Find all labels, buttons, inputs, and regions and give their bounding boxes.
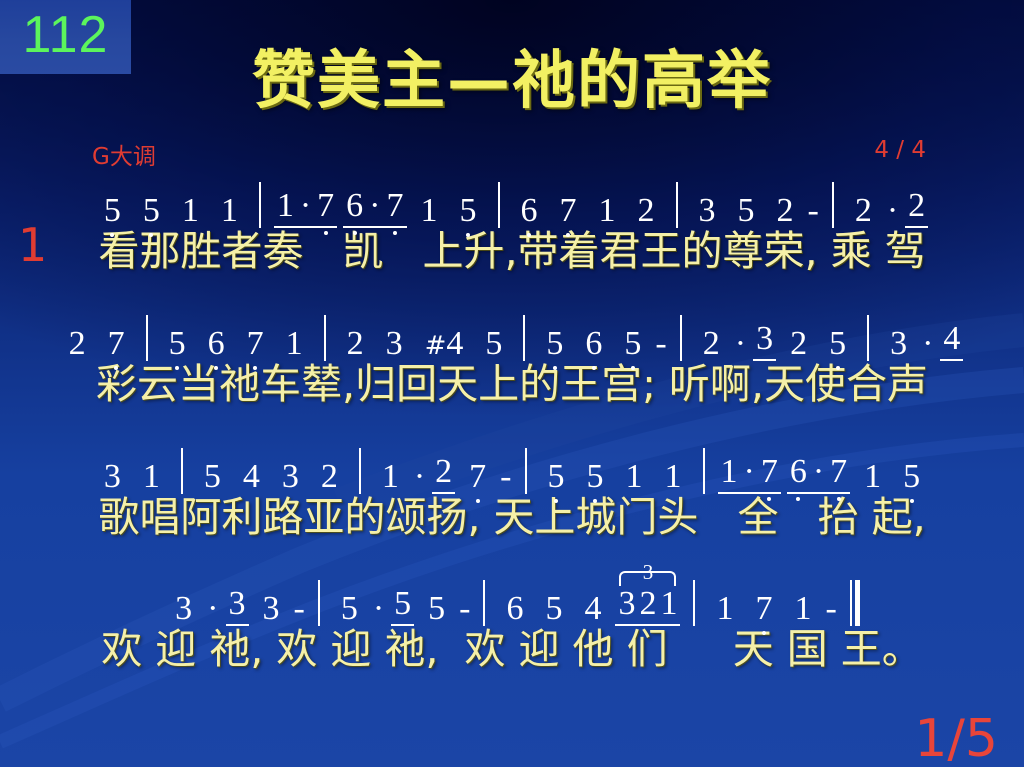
note-1: 1 [624,460,645,494]
notation-row-1: 55111·76·7156712352-2·2 [0,172,1024,228]
duration-dot: · [410,460,429,494]
note-slot: 7 [549,194,588,228]
barline [498,182,500,228]
note-7: 7 [385,189,406,223]
note-slot: 5 [818,327,857,361]
note-7: 7 [245,327,266,361]
lyrics-row-3: 歌唱阿利路亚的颂扬, 天上城门头 全 抬 起, [0,494,1024,541]
note-3: 3 [384,327,405,361]
note-slot: 6 [510,194,549,228]
note-slot: #4 [414,327,475,361]
note-5: 5 [622,327,643,361]
note-slot: 1 [654,460,693,494]
barline [693,580,695,626]
music-system-4: 3·33-5·55-6543321171- 欢 迎 祂, 欢 迎 祂, 欢 迎 … [0,570,1024,673]
beamed-note-single: 4 [940,322,963,361]
note-5: 5 [827,327,848,361]
barline [703,448,705,494]
note-5: 5 [901,460,922,494]
note-3: 3 [616,587,637,621]
note-1: 1 [141,460,162,494]
time-signature: 4 / 4 [874,137,926,163]
note-2: 2 [319,460,340,494]
note-3: 3 [697,194,718,228]
note-slot: 5 [474,327,513,361]
note-slot: 1 [588,194,627,228]
note-3: 3 [888,327,909,361]
barline [523,315,525,361]
note-2: 2 [67,327,88,361]
note-3: 3 [261,592,282,626]
note-2: 2 [345,327,366,361]
hold-dash: - [497,460,514,494]
note-slot: 3 [252,592,291,626]
music-system-3: 3154321·27-55111·76·715 歌唱阿利路亚的颂扬, 天上城门头… [0,438,1024,541]
note-6: 6 [206,327,227,361]
note-slot: 3 [164,592,203,626]
note-2: 2 [788,327,809,361]
barline [259,182,261,228]
note-slot: 1 [275,327,314,361]
note-slot: 3 [93,460,132,494]
music-system-2: 27567123#45565-2·3253·4 彩云当祂车辇,归回天上的王宫; … [0,305,1024,408]
note-slot: 1 [132,460,171,494]
note-5: 5 [546,460,567,494]
note-6: 6 [788,455,809,489]
barline [483,580,485,626]
beamed-note-single: 3 [226,587,249,626]
hold-dash: - [456,592,473,626]
note-5: 5 [458,194,479,228]
note-slot: 6 [574,327,613,361]
note-3: 3 [102,460,123,494]
note-2: 2 [853,194,874,228]
note-5: 5 [543,592,564,626]
note-7: 7 [828,455,849,489]
note-slot: 3 [375,327,414,361]
note-6: 6 [344,189,365,223]
note-slot: 2 [627,194,666,228]
hold-dash: - [652,327,669,361]
notation-row-4: 3·33-5·55-6543321171- [0,570,1024,626]
note-2: 2 [701,327,722,361]
duration-dot: · [918,327,937,361]
lyrics-row-1: 看那胜者奏 凯 上升,带着君王的尊荣, 乘 驾 [0,228,1024,275]
note-slot: 5 [892,460,931,494]
note-7: 7 [558,194,579,228]
note-1: 1 [663,460,684,494]
barline [359,448,361,494]
note-1: 1 [658,587,679,621]
note-slot: 5 [537,460,576,494]
barline [867,315,869,361]
note-1: 1 [792,592,813,626]
note-slot: 5 [93,194,132,228]
duration-dot: · [203,592,222,626]
hold-dash: - [822,592,839,626]
note-slot: 6 [495,592,534,626]
note-slot: 1 [615,460,654,494]
note-7: 7 [106,327,127,361]
note-7: 7 [759,455,780,489]
note-1: 1 [597,194,618,228]
note-slot: 7 [236,327,275,361]
hold-dash: - [291,592,308,626]
note-3: 3 [173,592,194,626]
note-2: 2 [906,189,927,223]
note-7: 7 [467,460,488,494]
note-3: 3 [754,322,775,356]
note-4: 4 [582,592,603,626]
note-5: 5 [426,592,447,626]
duration-dot: · [740,455,759,489]
duration-dot: · [809,455,828,489]
note-slot: 2 [844,194,883,228]
note-slot: 5 [193,460,232,494]
note-slot: 5 [417,592,456,626]
triplet-group: 3321 [615,567,680,626]
note-5: 5 [102,194,123,228]
note-slot: 3 [879,327,918,361]
note-4: 4 [241,460,262,494]
note-slot: 1 [210,194,249,228]
note-slot: 6 [197,327,236,361]
barline [676,182,678,228]
note-2: 2 [775,194,796,228]
beamed-note-single: 2 [905,189,928,228]
note-2: 2 [636,194,657,228]
note-1: 1 [380,460,401,494]
music-system-1: 55111·76·7156712352-2·2 看那胜者奏 凯 上升,带着君王的… [0,172,1024,275]
end-barline [850,580,860,626]
note-slot: 1 [410,194,449,228]
note-slot: 7 [744,592,783,626]
note-slot: 2 [766,194,805,228]
note-5: 5 [736,194,757,228]
barline [680,315,682,361]
beamed-note-single: 5 [391,587,414,626]
note-2: 2 [637,587,658,621]
note-slot: 5 [534,592,573,626]
note-3: 3 [227,587,248,621]
note-slot: 2 [310,460,349,494]
note-1: 1 [219,194,240,228]
note-4: 4 [941,322,962,356]
note-slot: 5 [330,592,369,626]
note-7: 7 [315,189,336,223]
note-1: 1 [419,194,440,228]
note-slot: 5 [576,460,615,494]
duration-dot: · [731,327,750,361]
note-5: 5 [392,587,413,621]
barline [832,182,834,228]
note-slot: 5 [158,327,197,361]
barline [525,448,527,494]
note-2: 2 [433,455,454,489]
duration-dot: · [296,189,315,223]
note-6: 6 [583,327,604,361]
barline [318,580,320,626]
note-5: 5 [483,327,504,361]
note-5: 5 [339,592,360,626]
beamed-note-group: 1·7 [274,189,337,228]
note-slot: 1 [371,460,410,494]
beamed-note-group: 6·7 [787,455,850,494]
beamed-note-group: 1·7 [718,455,781,494]
notation-row-3: 3154321·27-55111·76·715 [0,438,1024,494]
note-slot: 1 [783,592,822,626]
note-6: 6 [504,592,525,626]
note-slot: 2 [58,327,97,361]
note-slot: 2 [779,327,818,361]
note-slot: 7 [458,460,497,494]
beamed-note-group: 6·7 [343,189,406,228]
barline [146,315,148,361]
note-slot: 2 [692,327,731,361]
hymn-slide: 112 赞美主—祂的高举 G大调 4 / 4 1 55111·76·715671… [0,0,1024,767]
note-slot: 1 [171,194,210,228]
note-5: 5 [141,194,162,228]
note-5: 5 [585,460,606,494]
note-5: 5 [544,327,565,361]
duration-dot: · [883,194,902,228]
notation-row-2: 27567123#45565-2·3253·4 [0,305,1024,361]
duration-dot: · [365,189,384,223]
note-slot: 5 [727,194,766,228]
note-slot: 4 [573,592,612,626]
note-slot: 3 [688,194,727,228]
lyrics-row-4: 欢 迎 祂, 欢 迎 祂, 欢 迎 他 们 天 国 王。 [0,626,1024,673]
note-slot: 5 [535,327,574,361]
note-5: 5 [167,327,188,361]
note-slot: 1 [853,460,892,494]
note-slot: 1 [705,592,744,626]
hold-dash: - [805,194,822,228]
duration-dot: · [369,592,388,626]
triplet-label: 3 [639,562,658,583]
note-1: 1 [862,460,883,494]
note-slot: 3 [271,460,310,494]
key-signature: G大调 [92,137,156,171]
note-slot: 5 [449,194,488,228]
lyrics-row-2: 彩云当祂车辇,归回天上的王宫; 听啊,天使合声 [0,361,1024,408]
note-4: #4 [423,327,466,361]
page-title: 赞美主—祂的高举 [0,48,1024,114]
barline [324,315,326,361]
sharp-icon: # [425,331,447,361]
note-1: 1 [284,327,305,361]
note-slot: 5 [132,194,171,228]
note-3: 3 [280,460,301,494]
note-1: 1 [714,592,735,626]
note-1: 1 [180,194,201,228]
note-slot: 4 [232,460,271,494]
note-slot: 5 [613,327,652,361]
barline [181,448,183,494]
note-slot: 7 [97,327,136,361]
page-indicator: 1/5 [914,713,998,765]
note-7: 7 [753,592,774,626]
note-1: 1 [275,189,296,223]
note-1: 1 [719,455,740,489]
note-5: 5 [202,460,223,494]
beamed-note-single: 2 [432,455,455,494]
note-slot: 2 [336,327,375,361]
beamed-note-single: 3 [753,322,776,361]
note-6: 6 [519,194,540,228]
